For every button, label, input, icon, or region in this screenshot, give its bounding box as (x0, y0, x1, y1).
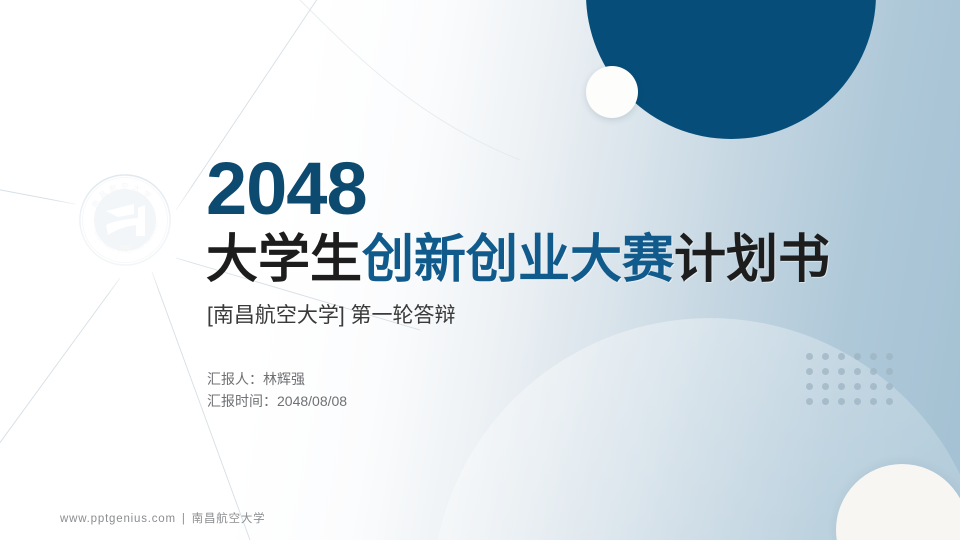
main-headline: 大学生创新创业大赛计划书 (206, 232, 830, 288)
grid-dot (886, 398, 893, 405)
dot-matrix-decoration (806, 353, 902, 413)
grid-dot (870, 368, 877, 375)
footer-separator: | (182, 513, 186, 525)
headline-lead: 大学生 (206, 231, 362, 289)
headline-accent: 创新创业大赛 (362, 231, 674, 289)
grid-dot (870, 398, 877, 405)
grid-dot (886, 353, 893, 360)
logo-glow (50, 147, 200, 297)
grid-dot (870, 383, 877, 390)
grid-dot (806, 353, 813, 360)
grid-dot (854, 368, 861, 375)
grid-dot (854, 383, 861, 390)
grid-dot (806, 383, 813, 390)
footer-website: www.pptgenius.com (60, 513, 176, 525)
white-accent-circle-shape (586, 66, 638, 118)
headline-tail: 计划书 (674, 231, 830, 289)
presentation-slide: 南昌航空大学 NANCHANG HANGKONG UNIVERSITY 1952… (0, 0, 960, 540)
grid-dot (854, 398, 861, 405)
university-logo: 南昌航空大学 NANCHANG HANGKONG UNIVERSITY 1952 (72, 167, 178, 273)
grid-dot (838, 353, 845, 360)
footer-bar: www.pptgenius.com|南昌航空大学 (60, 510, 265, 526)
grid-dot (886, 368, 893, 375)
grid-dot (822, 383, 829, 390)
large-faint-circle-shape (432, 318, 960, 540)
date-line: 汇报时间：2048/08/08 (207, 390, 347, 412)
grid-dot (806, 368, 813, 375)
grid-dot (870, 353, 877, 360)
footer-org: 南昌航空大学 (192, 513, 266, 525)
presenter-line: 汇报人：林辉强 (207, 368, 347, 390)
subtitle-text: [南昌航空大学] 第一轮答辩 (207, 303, 456, 329)
grid-dot (806, 398, 813, 405)
grid-dot (886, 383, 893, 390)
grid-dot (838, 398, 845, 405)
navy-circle-shape (586, 0, 876, 139)
grid-dot (838, 368, 845, 375)
grid-dot (822, 368, 829, 375)
white-corner-circle-shape (836, 464, 960, 540)
grid-dot (838, 383, 845, 390)
grid-dot (822, 353, 829, 360)
grid-dot (822, 398, 829, 405)
grid-dot (854, 353, 861, 360)
year-heading: 2048 (206, 152, 367, 226)
presentation-meta: 汇报人：林辉强 汇报时间：2048/08/08 (207, 368, 347, 412)
